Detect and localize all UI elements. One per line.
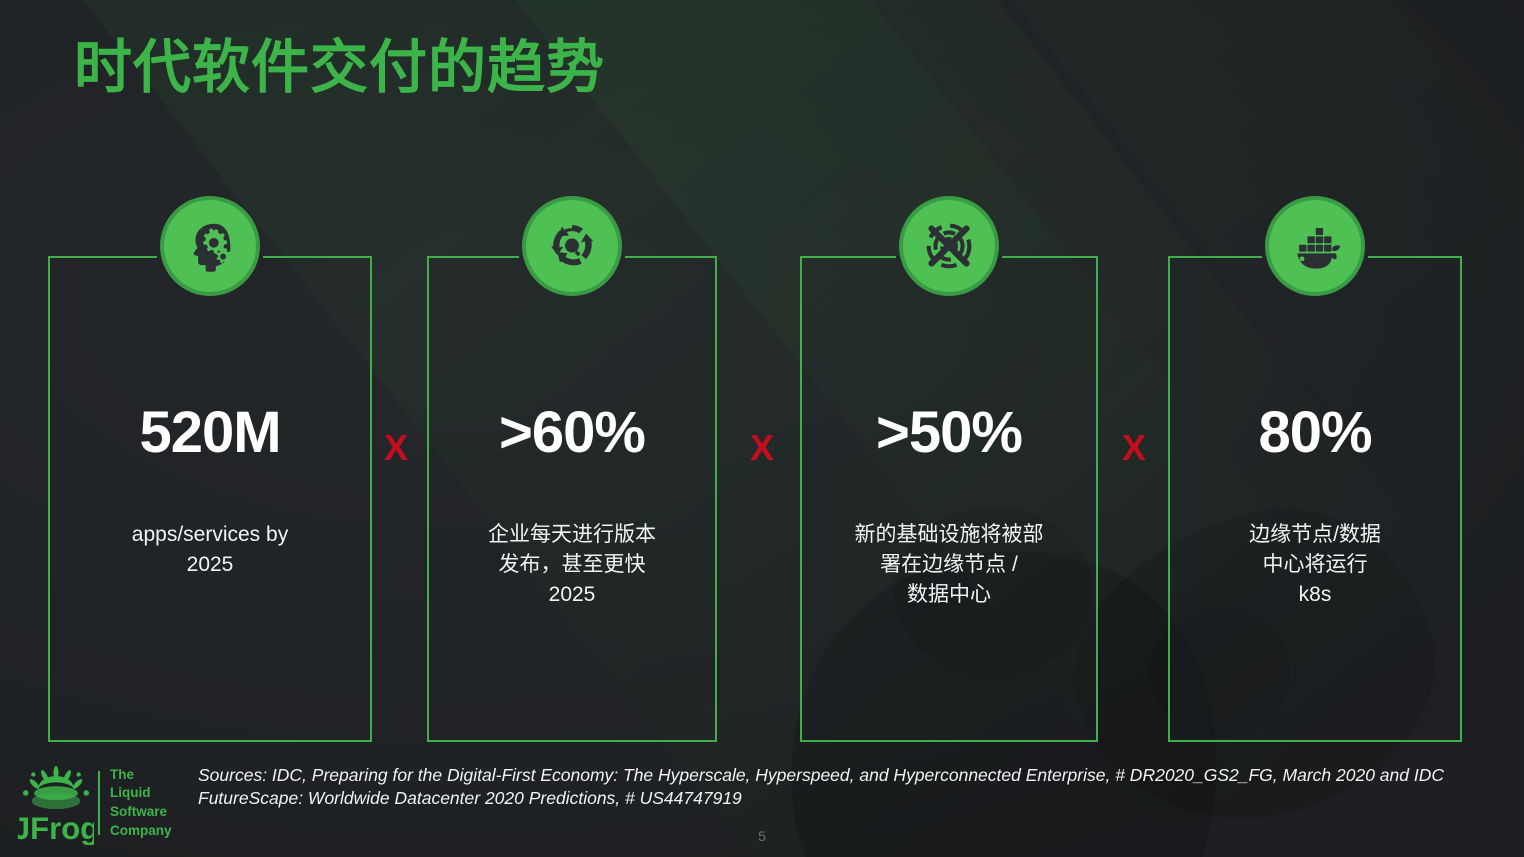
stat-value: 520M (50, 404, 370, 462)
stats-card-row: 520M apps/services by 2025 (0, 256, 1524, 746)
slide-number: 5 (0, 828, 1524, 844)
sources-note: Sources: IDC, Preparing for the Digital-… (198, 764, 1510, 810)
docker-whale-icon (1265, 196, 1365, 296)
stat-description: 新的基础设施将被部 署在边缘节点 / 数据中心 (808, 520, 1090, 609)
multiplier-separator: X (1122, 430, 1146, 466)
icon-circle (903, 200, 995, 292)
icon-circle (1269, 200, 1361, 292)
stat-description: 企业每天进行版本 发布，甚至更快 2025 (435, 520, 709, 609)
stat-description: apps/services by 2025 (56, 520, 364, 580)
slide-title: 时代软件交付的趋势 (74, 36, 605, 100)
multiplier-separator: X (384, 430, 408, 466)
continuous-delivery-loop-icon (522, 196, 622, 296)
presentation-slide: 时代软件交付的趋势 520M app (0, 0, 1524, 857)
stat-card-apps-services: 520M apps/services by 2025 (48, 256, 372, 742)
stat-value: 80% (1170, 404, 1460, 462)
stat-value: >60% (429, 404, 715, 462)
logo-divider (98, 771, 100, 835)
icon-circle (526, 200, 618, 292)
stat-card-kubernetes-adoption: 80% 边缘节点/数据 中心将运行 k8s (1168, 256, 1462, 742)
icon-circle (164, 200, 256, 292)
stat-description: 边缘节点/数据 中心将运行 k8s (1176, 520, 1454, 609)
stat-value: >50% (802, 404, 1096, 462)
multiplier-separator: X (750, 430, 774, 466)
edge-network-target-icon (899, 196, 999, 296)
stat-card-edge-infrastructure: >50% 新的基础设施将被部 署在边缘节点 / 数据中心 (800, 256, 1098, 742)
brain-gears-icon (160, 196, 260, 296)
stat-card-release-frequency: >60% 企业每天进行版本 发布，甚至更快 2025 (427, 256, 717, 742)
